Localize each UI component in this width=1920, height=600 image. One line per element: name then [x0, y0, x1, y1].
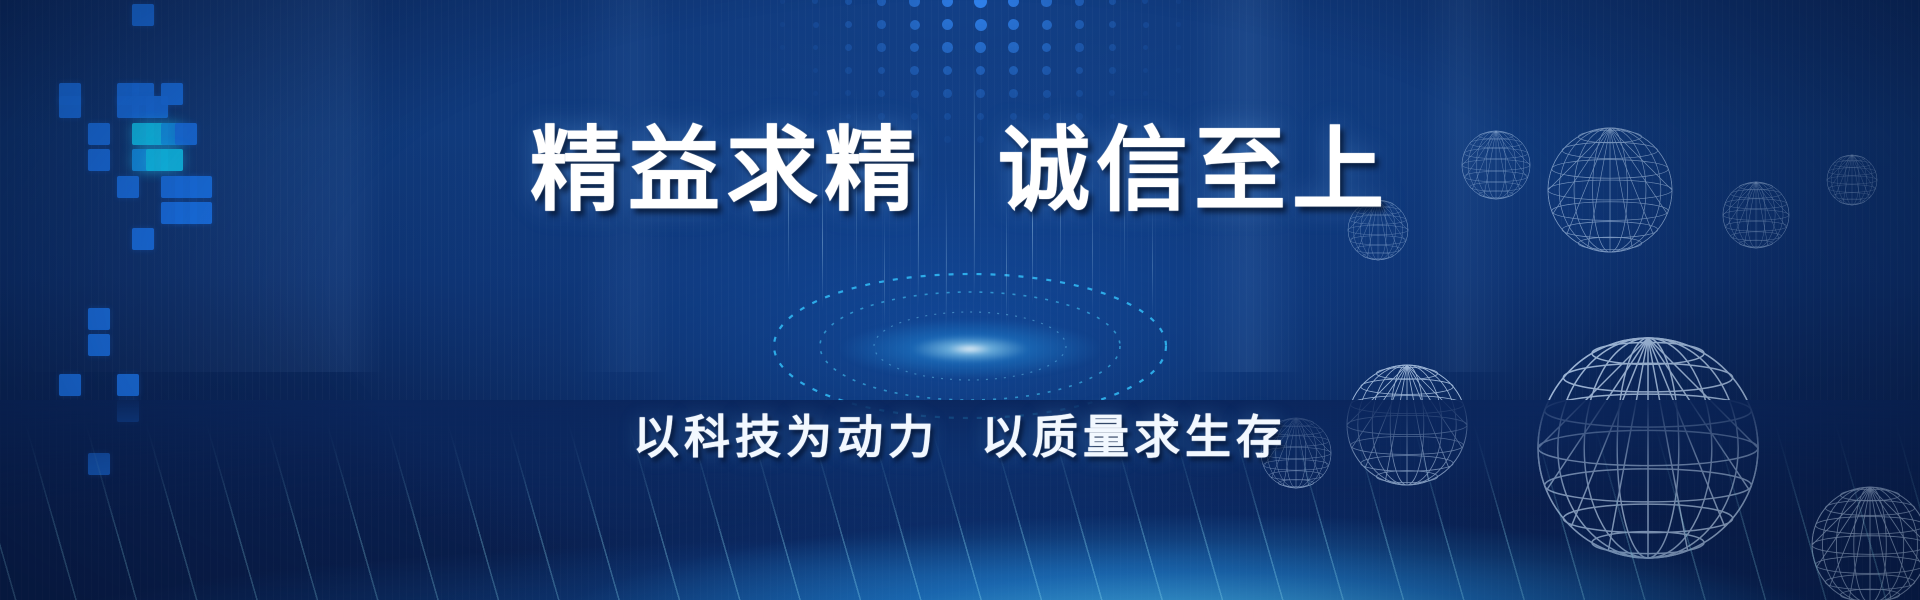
background-streaks	[0, 0, 1920, 600]
portal-core-glow	[840, 319, 1100, 379]
page-subtitle: 以科技为动力 以质量求生存	[0, 412, 1920, 463]
page-title: 精益求精 诚信至上	[0, 122, 1920, 219]
wireframe-globes-group	[1200, 0, 1920, 600]
wireframe-globe-svg	[1200, 0, 1920, 600]
hero-banner: 精益求精 诚信至上 以科技为动力 以质量求生存	[0, 0, 1920, 600]
vignette-overlay	[0, 0, 1920, 600]
